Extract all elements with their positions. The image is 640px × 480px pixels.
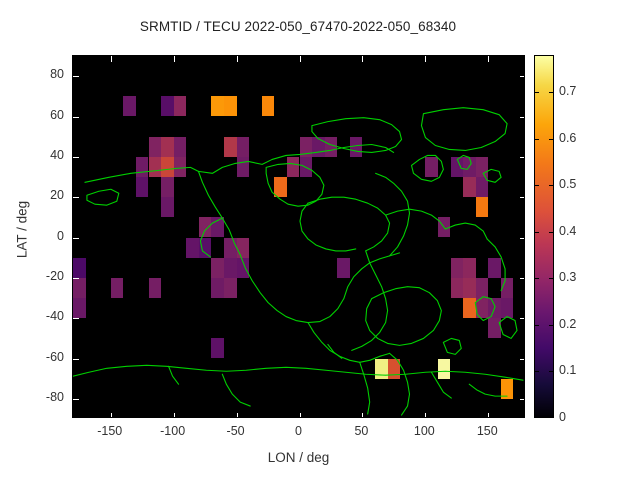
colorbar-tick-mark: [534, 232, 539, 233]
y-axis-tick-mark: [73, 399, 79, 400]
y-axis-tick-mark: [73, 117, 79, 118]
x-axis-tick-label: -100: [143, 424, 203, 438]
y-axis-tick-mark: [520, 76, 525, 77]
x-axis-tick-mark: [300, 56, 301, 62]
figure-canvas: SRMTID / TECU 2022-050_67470-2022-050_68…: [0, 0, 640, 480]
colorbar-tick-label: 0: [559, 410, 566, 424]
colorbar-tick-mark: [534, 139, 539, 140]
coastline-overlay: [73, 56, 524, 417]
x-axis-tick-mark: [362, 413, 363, 418]
x-axis-tick-mark: [362, 56, 363, 62]
colorbar-tick-mark: [534, 278, 539, 279]
y-axis-tick-label: 80: [22, 67, 64, 81]
x-axis-tick-label: -50: [206, 424, 266, 438]
x-axis-tick-label: 0: [269, 424, 329, 438]
colorbar-tick-mark: [549, 371, 554, 372]
y-axis-tick-mark: [520, 238, 525, 239]
x-axis-tick-mark: [425, 56, 426, 62]
x-axis-tick-mark: [300, 413, 301, 418]
y-axis-tick-label: 40: [22, 148, 64, 162]
y-axis-tick-mark: [73, 359, 79, 360]
x-axis-tick-mark: [237, 413, 238, 418]
colorbar-tick-mark: [549, 278, 554, 279]
colorbar-tick-label: 0.5: [559, 177, 576, 191]
x-axis-tick-label: -150: [80, 424, 140, 438]
x-axis-tick-label: 150: [457, 424, 517, 438]
y-axis-tick-mark: [520, 197, 525, 198]
x-axis-tick-mark: [237, 56, 238, 62]
y-axis-tick-mark: [73, 76, 79, 77]
y-axis-tick-label: -80: [22, 390, 64, 404]
y-axis-tick-mark: [520, 117, 525, 118]
colorbar-tick-label: 0.3: [559, 270, 576, 284]
x-axis-tick-mark: [488, 413, 489, 418]
x-axis-tick-mark: [111, 413, 112, 418]
x-axis-tick-mark: [425, 413, 426, 418]
y-axis-label: LAT / deg: [15, 170, 30, 290]
colorbar-tick-label: 0.4: [559, 224, 576, 238]
y-axis-tick-mark: [73, 197, 79, 198]
colorbar-tick-label: 0.6: [559, 131, 576, 145]
y-axis-tick-mark: [73, 278, 79, 279]
colorbar-tick-mark: [534, 92, 539, 93]
x-axis-tick-label: 50: [331, 424, 391, 438]
x-axis-tick-label: 100: [394, 424, 454, 438]
y-axis-tick-mark: [520, 318, 525, 319]
y-axis-tick-mark: [73, 238, 79, 239]
y-axis-tick-label: -60: [22, 350, 64, 364]
y-axis-tick-mark: [73, 318, 79, 319]
x-axis-tick-mark: [174, 56, 175, 62]
y-axis-tick-label: -40: [22, 309, 64, 323]
colorbar-tick-mark: [549, 185, 554, 186]
map-plot-area[interactable]: [72, 55, 525, 418]
x-axis-tick-mark: [488, 56, 489, 62]
colorbar-tick-mark: [534, 325, 539, 326]
y-axis-tick-mark: [520, 399, 525, 400]
colorbar-tick-label: 0.1: [559, 363, 576, 377]
y-axis-tick-mark: [73, 157, 79, 158]
colorbar: [534, 55, 554, 418]
chart-title: SRMTID / TECU 2022-050_67470-2022-050_68…: [0, 19, 596, 34]
colorbar-tick-mark: [549, 92, 554, 93]
colorbar-tick-label: 0.7: [559, 84, 576, 98]
colorbar-tick-mark: [549, 232, 554, 233]
y-axis-tick-mark: [520, 157, 525, 158]
colorbar-tick-mark: [534, 185, 539, 186]
x-axis-label: LON / deg: [72, 450, 525, 465]
colorbar-tick-mark: [549, 139, 554, 140]
colorbar-tick-label: 0.2: [559, 317, 576, 331]
colorbar-tick-mark: [549, 325, 554, 326]
x-axis-tick-mark: [174, 413, 175, 418]
y-axis-tick-mark: [520, 278, 525, 279]
x-axis-tick-mark: [111, 56, 112, 62]
y-axis-tick-mark: [520, 359, 525, 360]
y-axis-tick-label: 60: [22, 108, 64, 122]
colorbar-tick-mark: [534, 371, 539, 372]
